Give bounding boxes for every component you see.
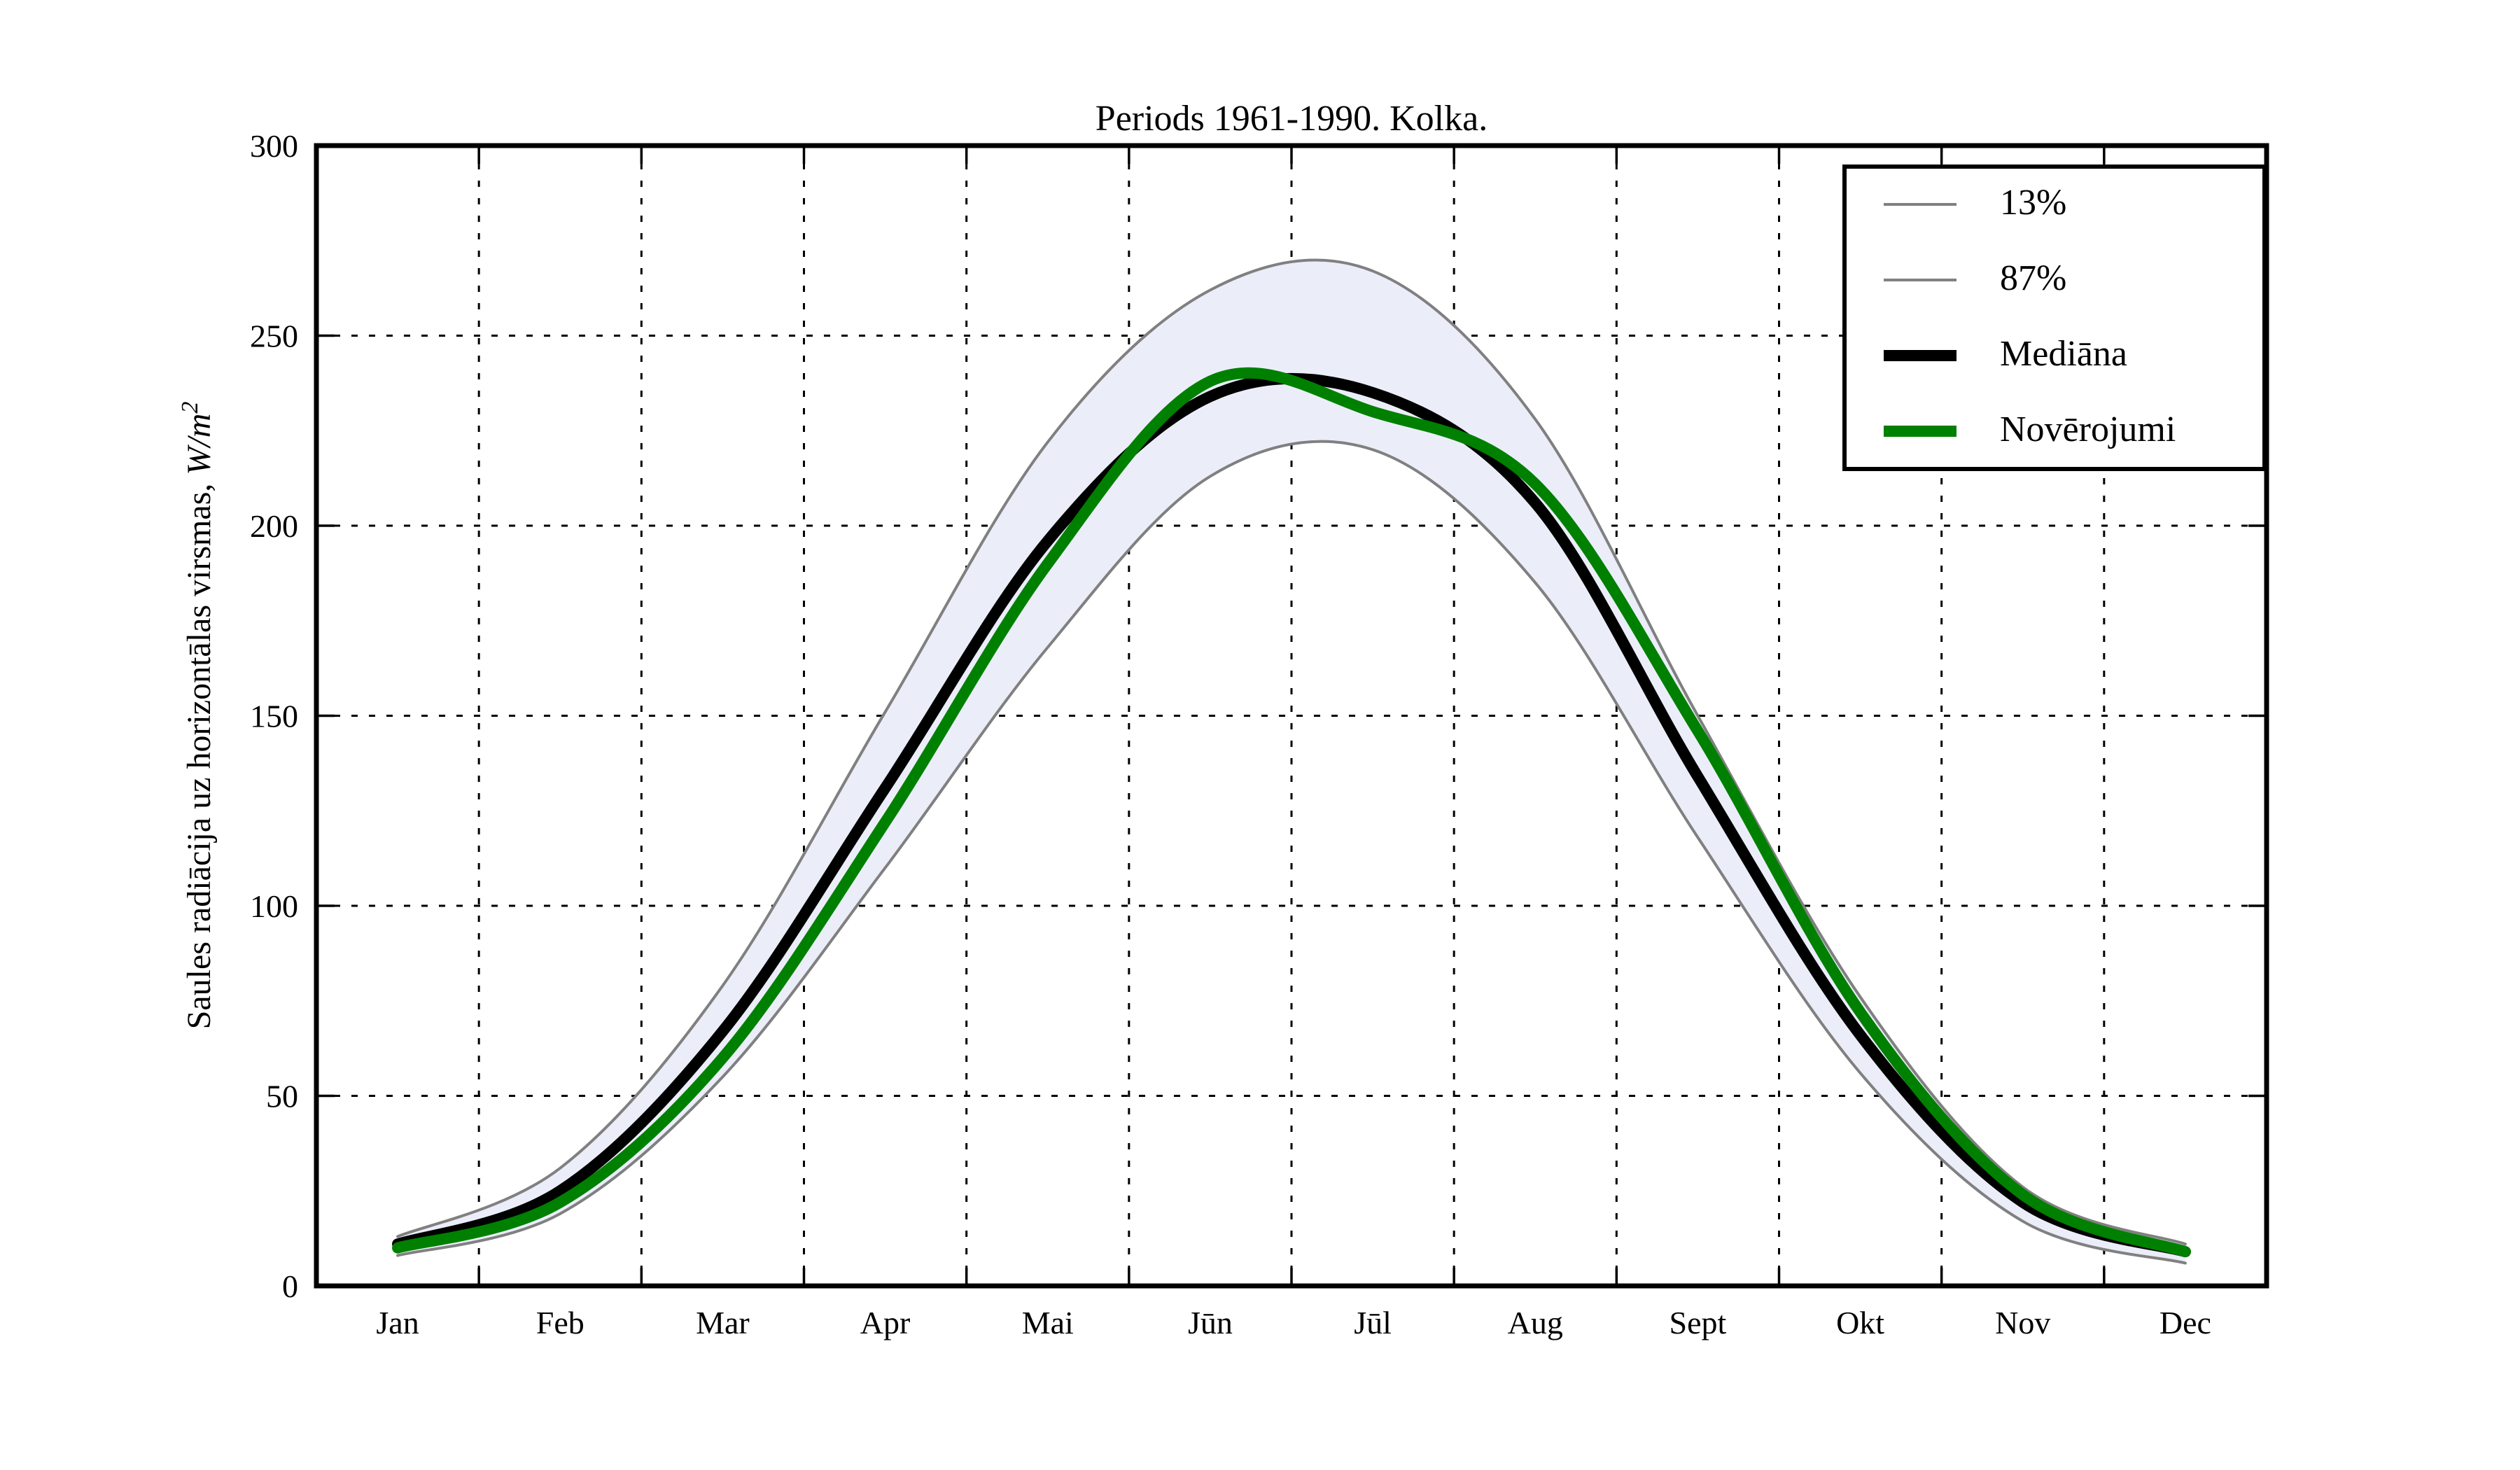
x-tick-label-apr: Apr (860, 1305, 911, 1340)
legend-label-13: 13% (2000, 183, 2066, 223)
x-tick-label-jūl: Jūl (1354, 1305, 1392, 1340)
solar-radiation-chart: Periods 1961-1990. Kolka. Saules radiāci… (0, 0, 2520, 1470)
y-axis-label: Saules radiācija uz horizontālas virsmas… (177, 402, 218, 1030)
y-tick-label-250: 250 (250, 318, 298, 354)
x-tick-label-jūn: Jūn (1188, 1305, 1233, 1340)
y-axis-label-units: W/m (181, 414, 218, 475)
legend-label-medi-na: Mediāna (2000, 334, 2127, 374)
chart-title: Periods 1961-1990. Kolka. (1095, 99, 1487, 139)
legend-label-nov-rojumi: Novērojumi (2000, 409, 2176, 449)
legend-label-87: 87% (2000, 258, 2066, 298)
y-tick-label-0: 0 (282, 1268, 298, 1304)
y-tick-label-300: 300 (250, 128, 298, 164)
x-tick-label-sept: Sept (1669, 1305, 1727, 1340)
y-axis-label-exponent: 2 (177, 402, 203, 414)
x-tick-label-feb: Feb (536, 1305, 584, 1340)
y-tick-label-100: 100 (250, 888, 298, 924)
svg-text:Saules radiācija uz horizontāl: Saules radiācija uz horizontālas virsmas… (177, 402, 218, 1030)
x-tick-label-dec: Dec (2159, 1305, 2211, 1340)
x-tick-label-mai: Mai (1022, 1305, 1074, 1340)
y-tick-label-200: 200 (250, 508, 298, 544)
x-tick-label-okt: Okt (1836, 1305, 1884, 1340)
chart-figure: Periods 1961-1990. Kolka. Saules radiāci… (0, 0, 2520, 1470)
y-axis-label-text: Saules radiācija uz horizontālas virsmas… (181, 475, 218, 1030)
x-tick-label-jan: Jan (376, 1305, 419, 1340)
y-tick-label-50: 50 (266, 1079, 298, 1114)
x-tick-label-nov: Nov (1995, 1305, 2050, 1340)
x-tick-label-aug: Aug (1508, 1305, 1563, 1340)
x-tick-label-mar: Mar (696, 1305, 750, 1340)
y-tick-label-150: 150 (250, 699, 298, 734)
chart-legend: 13%87%MediānaNovērojumi (1844, 167, 2264, 469)
